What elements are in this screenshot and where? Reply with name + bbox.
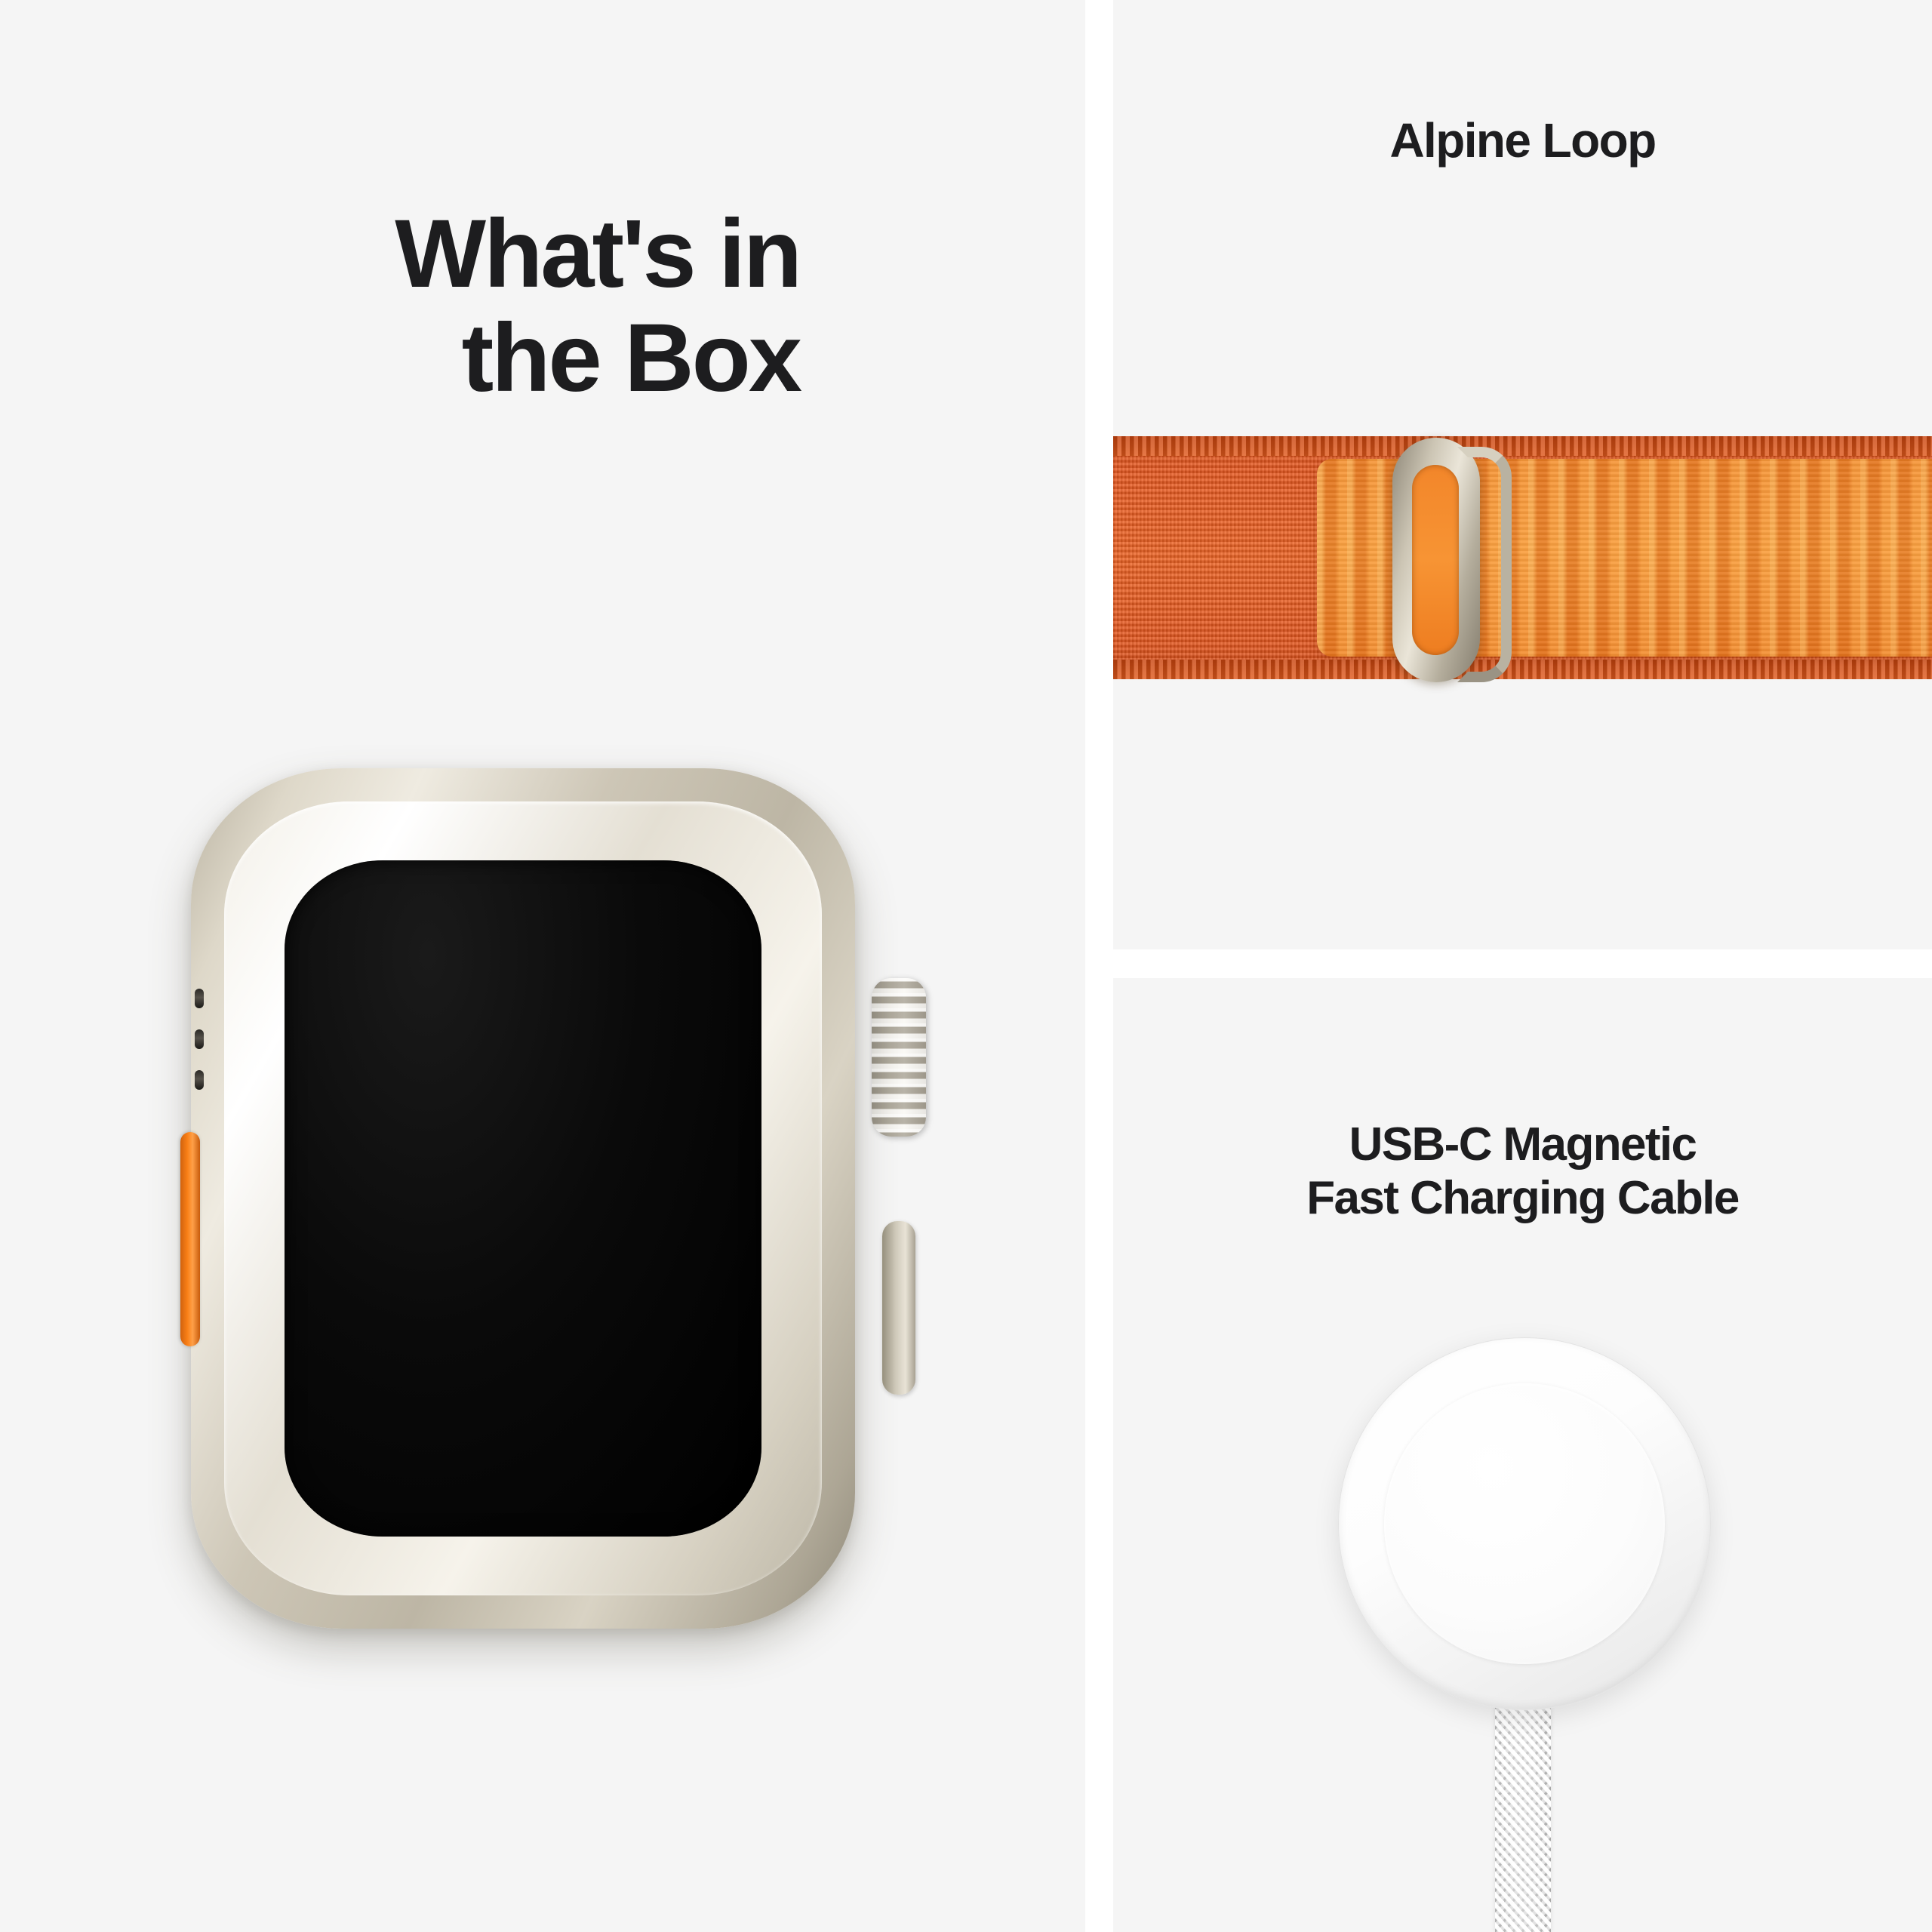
speaker-grille-icon bbox=[193, 986, 205, 1099]
side-button-icon bbox=[882, 1221, 915, 1395]
alpine-loop-band-figure bbox=[1113, 436, 1932, 679]
action-button-icon bbox=[180, 1132, 200, 1346]
usb-c-magnetic-charger-figure bbox=[1113, 1337, 1932, 1932]
charging-cable-label: USB-C Magnetic Fast Charging Cable bbox=[1113, 1118, 1932, 1225]
g-hook-buckle-icon bbox=[1392, 432, 1480, 688]
apple-watch-ultra-figure bbox=[191, 768, 900, 1629]
panel-watch: What's in the Box bbox=[0, 0, 1085, 1932]
whats-in-the-box-product-image: What's in the Box Alpine Loop bbox=[0, 0, 1932, 1932]
watch-display bbox=[285, 860, 761, 1537]
magnetic-charging-puck bbox=[1338, 1337, 1711, 1710]
page-title: What's in the Box bbox=[45, 202, 800, 411]
watch-bezel bbox=[224, 801, 822, 1595]
panel-alpine-loop: Alpine Loop bbox=[1113, 0, 1932, 949]
watch-case bbox=[191, 768, 855, 1629]
alpine-loop-label: Alpine Loop bbox=[1113, 113, 1932, 168]
panel-charging-cable: USB-C Magnetic Fast Charging Cable bbox=[1113, 978, 1932, 1932]
digital-crown-icon bbox=[872, 978, 926, 1137]
charging-puck-inner-disc bbox=[1384, 1383, 1665, 1664]
braided-cable bbox=[1495, 1690, 1551, 1932]
